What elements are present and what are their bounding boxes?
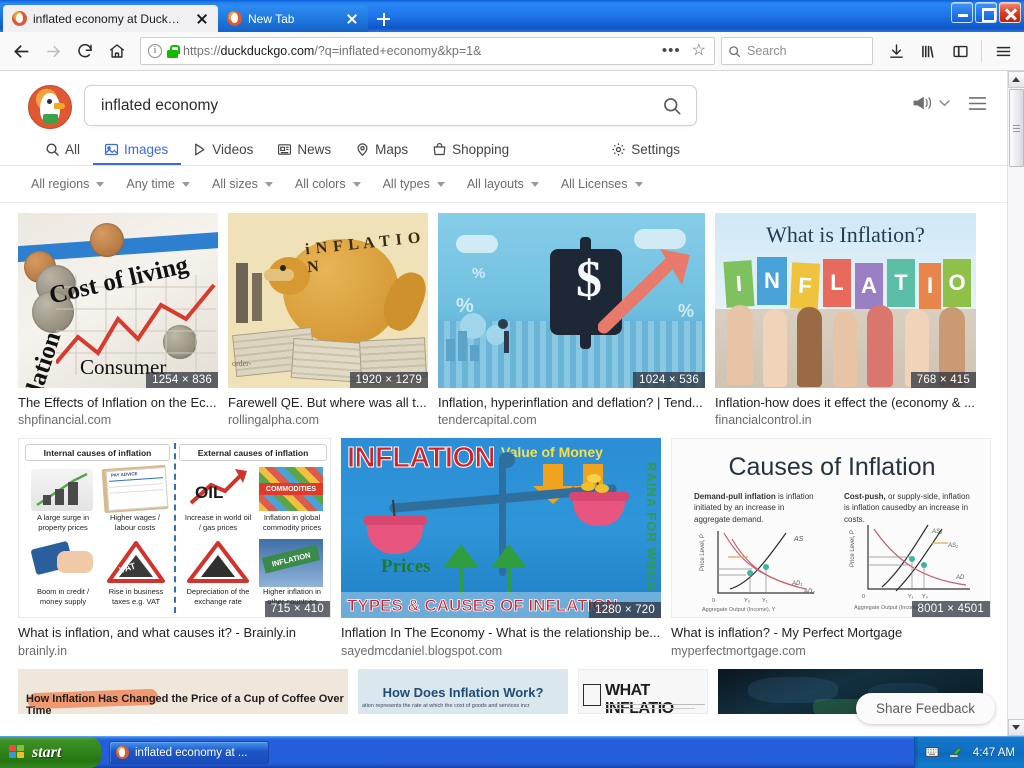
scroll-up-button[interactable]	[1008, 71, 1024, 88]
tab-label: News	[297, 142, 331, 157]
thumb-title: INFLATION	[347, 442, 495, 475]
svg-text:Price Level, P: Price Level, P	[700, 534, 706, 571]
svg-text:0: 0	[862, 594, 865, 600]
taskbar: start inflated economy at ... 4:47 AM	[0, 736, 1024, 768]
thumb-bold-label: Cost-push,	[844, 492, 886, 501]
search-icon	[728, 45, 741, 58]
thumb-caption: Rise in business taxes e.g. VAT	[103, 587, 169, 607]
thumb-caption: A large surge in property prices	[31, 513, 95, 533]
result-title[interactable]: What is inflation? - My Perfect Mortgage	[671, 625, 991, 641]
svg-text:AD₂: AD₂	[803, 589, 815, 595]
svg-text:Y₀: Y₀	[744, 598, 750, 604]
result-item[interactable]: How Inflation Has Changed the Price of a…	[18, 669, 348, 714]
tab-images[interactable]: Images	[93, 137, 181, 165]
result-source: financialcontrol.in	[715, 413, 976, 427]
filter-label: All types	[383, 177, 430, 191]
thumb-caption: Boom in credit / money supply	[31, 587, 95, 607]
maximize-button[interactable]	[975, 2, 997, 23]
thumb-caption: Depreciation of the exchange rate	[183, 587, 253, 607]
page-actions-icon[interactable]: •••	[658, 46, 685, 56]
window-controls	[951, 2, 1021, 23]
hamburger-menu-icon[interactable]	[968, 96, 987, 111]
result-thumbnail[interactable]: i N F L A T I O N order- 1920 × 1279	[228, 213, 428, 388]
image-icon	[104, 142, 119, 157]
result-source: brainly.in	[18, 644, 331, 658]
url-text: https://duckduckgo.com/?q=inflated+econo…	[183, 44, 653, 58]
image-dimensions: 1280 × 720	[589, 602, 661, 618]
thumb-caption: How Inflation Has Changed the Price of a…	[26, 693, 348, 714]
result-title[interactable]: What is inflation, and what causes it? -…	[18, 625, 331, 641]
filter-all-licenses[interactable]: All Licenses	[550, 175, 654, 193]
tab-label: Maps	[375, 142, 408, 157]
title-bar: inflated economy at DuckDuckGo New Tab	[0, 0, 1024, 32]
chevron-down-icon	[635, 182, 643, 187]
thumb-label: External causes of inflation	[179, 444, 327, 461]
thumb-badge: OIL	[195, 483, 223, 503]
thumb-footer: TYPES & CAUSES OF INFLATION	[347, 596, 618, 616]
thumb-side-label: RAINA FOR WBCS	[637, 462, 659, 591]
chevron-down-icon	[265, 182, 273, 187]
tab-new-tab[interactable]: New Tab	[218, 5, 368, 32]
result-item[interactable]: Cost of living Consumer lation 1254 × 83…	[18, 213, 218, 427]
home-button[interactable]	[102, 36, 132, 66]
filter-label: Any time	[126, 177, 175, 191]
search-icon[interactable]	[662, 96, 682, 116]
tab-label: Shopping	[452, 142, 509, 157]
ddg-header: inflated economy	[0, 71, 1007, 129]
result-thumbnail[interactable]: Cost of living Consumer lation 1254 × 83…	[18, 213, 218, 388]
thumb-caption: Inflation in global commodity prices	[257, 513, 327, 533]
bag-icon	[432, 142, 447, 157]
tab-settings[interactable]: Settings	[600, 137, 693, 165]
ddg-search-input[interactable]: inflated economy	[101, 97, 662, 115]
taskbar-item-label: inflated economy at ...	[135, 747, 248, 759]
thumb-label: Prices	[381, 556, 431, 578]
app-menu-button[interactable]	[988, 36, 1018, 66]
chevron-down-icon	[353, 182, 361, 187]
svg-text:AD: AD	[955, 575, 965, 581]
result-thumbnail[interactable]: Internal causes of inflation External ca…	[18, 438, 331, 618]
result-thumbnail[interactable]: What is Inflation? I N F L A T I O	[715, 213, 976, 388]
duckduckgo-favicon-icon	[116, 746, 129, 759]
close-button[interactable]	[999, 2, 1021, 23]
result-item[interactable]: INFLATION Value of Money	[341, 438, 661, 657]
megaphone-icon[interactable]	[912, 95, 950, 111]
filter-all-layouts[interactable]: All layouts	[456, 175, 550, 193]
tab-news[interactable]: News	[266, 137, 344, 165]
svg-text:Price Level, P: Price Level, P	[850, 530, 856, 567]
filter-any-time[interactable]: Any time	[115, 175, 201, 193]
duckduckgo-page: inflated economy	[0, 71, 1007, 736]
page-scrollbar[interactable]	[1007, 71, 1024, 736]
start-button[interactable]: start	[0, 737, 101, 768]
tab-close-icon[interactable]	[194, 11, 210, 27]
thumb-caption: WHAT INFLATIO	[605, 682, 707, 714]
scrollbar-thumb[interactable]	[1009, 89, 1024, 167]
result-thumbnail[interactable]: INFLATION Value of Money	[341, 438, 661, 618]
system-tray: 4:47 AM	[914, 737, 1024, 768]
page-viewport: inflated economy	[0, 71, 1024, 736]
clock[interactable]: 4:47 AM	[971, 747, 1015, 759]
image-dimensions: 1254 × 836	[146, 372, 218, 388]
result-title[interactable]: Inflation In The Economy - What is the r…	[341, 625, 661, 641]
filter-bar: All regions Any time All sizes All color…	[0, 166, 1007, 203]
image-dimensions: 1920 × 1279	[350, 372, 428, 388]
svg-text:Y₁: Y₁	[908, 594, 914, 600]
start-label: start	[32, 744, 61, 762]
navigation-toolbar: i https://duckduckgo.com/?q=inflated+eco…	[0, 32, 1024, 71]
tab-label: Videos	[212, 142, 253, 157]
image-dimensions: 768 × 415	[911, 372, 976, 388]
windows-flag-icon	[9, 745, 26, 761]
play-icon	[192, 142, 207, 157]
security-icon[interactable]	[948, 746, 962, 760]
result-item[interactable]: How Does Inflation Work? ation represent…	[358, 669, 568, 714]
lock-icon	[167, 45, 178, 58]
thumb-label: Internal causes of inflation	[25, 444, 170, 461]
tab-active[interactable]: inflated economy at DuckDuckGo	[3, 5, 218, 32]
result-thumbnail[interactable]: $ % % %	[438, 213, 705, 388]
chevron-down-icon	[531, 182, 539, 187]
svg-text:Y₁: Y₁	[762, 598, 768, 604]
minimize-button[interactable]	[951, 2, 973, 23]
keyboard-icon[interactable]	[925, 746, 939, 760]
site-info-icon[interactable]: i	[148, 44, 162, 58]
tab-title: inflated economy at DuckDuckGo	[33, 12, 188, 26]
image-dimensions: 715 × 410	[265, 601, 330, 617]
results-row: Cost of living Consumer lation 1254 × 83…	[18, 213, 1007, 427]
thumb-badge: COMMODITIES	[259, 483, 323, 495]
result-title[interactable]: Farewell QE. But where was all t...	[228, 395, 428, 411]
thumb-subtitle: Value of Money	[501, 444, 603, 460]
tab-shopping[interactable]: Shopping	[421, 137, 522, 165]
filter-all-regions[interactable]: All regions	[20, 175, 115, 193]
result-item[interactable]: Internal causes of inflation External ca…	[18, 438, 331, 657]
thumb-caption: Higher wages / labour costs	[103, 513, 167, 533]
result-thumbnail[interactable]: How Does Inflation Work? ation represent…	[358, 669, 568, 714]
svg-text:AS₁: AS₁	[947, 543, 958, 549]
filter-label: All sizes	[212, 177, 258, 191]
duckduckgo-favicon-icon	[12, 11, 27, 26]
result-thumbnail[interactable]: Causes of Inflation Demand-pull inflatio…	[671, 438, 991, 618]
filter-all-colors[interactable]: All colors	[284, 175, 372, 193]
taskbar-item-browser[interactable]: inflated economy at ...	[109, 741, 269, 764]
search-placeholder: Search	[747, 44, 787, 58]
result-item[interactable]: i N F L A T I O N order- 1920 × 1279 Far…	[228, 213, 428, 427]
chevron-down-icon	[96, 182, 104, 187]
news-icon	[277, 142, 292, 157]
result-source: sayedmcdaniel.blogspot.com	[341, 644, 661, 658]
tab-maps[interactable]: Maps	[344, 137, 421, 165]
result-source: tendercapital.com	[438, 413, 705, 427]
result-source: myperfectmortgage.com	[671, 644, 991, 658]
url-bar[interactable]: i https://duckduckgo.com/?q=inflated+eco…	[140, 37, 715, 65]
ddg-search-box[interactable]: inflated economy	[84, 85, 697, 126]
tab-label: All	[65, 142, 80, 157]
sidebar-button[interactable]	[945, 36, 975, 66]
forward-button[interactable]	[38, 36, 68, 66]
result-title[interactable]: The Effects of Inflation on the Ec...	[18, 395, 218, 411]
filter-label: All regions	[31, 177, 89, 191]
filter-label: All colors	[295, 177, 346, 191]
filter-all-sizes[interactable]: All sizes	[201, 175, 284, 193]
result-title[interactable]: Inflation, hyperinflation and deflation?…	[438, 395, 705, 411]
image-dimensions: 8001 × 4501	[912, 601, 990, 617]
image-dimensions: 1024 × 536	[633, 372, 705, 388]
tab-label: Settings	[631, 142, 680, 157]
scrollbar-grip-icon	[1013, 123, 1020, 134]
result-thumbnail[interactable]: How Inflation Has Changed the Price of a…	[18, 669, 348, 714]
svg-text:AD₁: AD₁	[791, 581, 802, 587]
filter-all-types[interactable]: All types	[372, 175, 456, 193]
back-button[interactable]	[6, 36, 36, 66]
scroll-down-button[interactable]	[1008, 719, 1024, 736]
search-icon	[45, 142, 60, 157]
svg-text:Y₀: Y₀	[922, 594, 928, 600]
tab-all[interactable]: All	[34, 137, 93, 165]
thumb-title: Causes of Inflation	[672, 453, 991, 482]
result-item[interactable]: What is Inflation? I N F L A T I O	[715, 213, 976, 427]
ddg-header-right	[912, 85, 1007, 111]
svg-text:AS₂: AS₂	[931, 529, 943, 535]
toolbar-divider	[981, 40, 982, 62]
chevron-down-icon	[939, 99, 950, 107]
library-button[interactable]	[913, 36, 943, 66]
thumb-caption: How Does Inflation Work?	[358, 685, 568, 700]
svg-text:0: 0	[712, 598, 715, 604]
chevron-down-icon	[182, 182, 190, 187]
result-source: rollingalpha.com	[228, 413, 428, 427]
bookmark-star-icon[interactable]: ☆	[690, 40, 710, 62]
gear-icon	[611, 142, 626, 157]
search-bar[interactable]: Search	[721, 37, 873, 65]
duckduckgo-logo-icon[interactable]	[28, 85, 72, 129]
filter-label: All layouts	[467, 177, 524, 191]
chevron-down-icon	[437, 182, 445, 187]
tab-label: Images	[124, 142, 168, 157]
result-item[interactable]: $ % % %	[438, 213, 705, 427]
thumb-bold-label: Demand-pull inflation	[694, 492, 776, 501]
tab-title: New Tab	[248, 12, 338, 26]
result-source: shpfinancial.com	[18, 413, 218, 427]
tab-close-icon[interactable]	[344, 11, 360, 27]
svg-text:AS: AS	[793, 536, 804, 543]
tab-strip: inflated economy at DuckDuckGo New Tab	[3, 0, 397, 32]
result-item[interactable]: WHAT INFLATIO	[578, 669, 708, 714]
result-thumbnail[interactable]: WHAT INFLATIO	[578, 669, 708, 714]
share-feedback-button[interactable]: Share Feedback	[856, 693, 995, 724]
thumb-subcaption: ation represents the rate at which the c…	[362, 703, 568, 709]
taskbar-items: inflated economy at ...	[101, 737, 269, 768]
image-results: Cost of living Consumer lation 1254 × 83…	[0, 203, 1007, 714]
pin-icon	[355, 142, 370, 157]
results-row: Internal causes of inflation External ca…	[18, 438, 1007, 657]
result-item[interactable]: Causes of Inflation Demand-pull inflatio…	[671, 438, 991, 657]
browser-window: inflated economy at DuckDuckGo New Tab	[0, 0, 1024, 736]
toolbar-right	[881, 36, 1018, 66]
ddg-nav-tabs: All Images Videos News	[0, 129, 1007, 166]
new-tab-button[interactable]	[369, 5, 397, 32]
filter-label: All Licenses	[561, 177, 628, 191]
thumb-axis-label: Aggregate Output (Income), Y	[702, 607, 775, 613]
result-title[interactable]: Inflation-how does it effect the (econom…	[715, 395, 976, 411]
firefox-favicon-icon	[227, 11, 242, 26]
thumb-caption: Increase in world oil / gas prices	[183, 513, 253, 533]
reload-button[interactable]	[70, 36, 100, 66]
tab-videos[interactable]: Videos	[181, 137, 266, 165]
downloads-button[interactable]	[881, 36, 911, 66]
